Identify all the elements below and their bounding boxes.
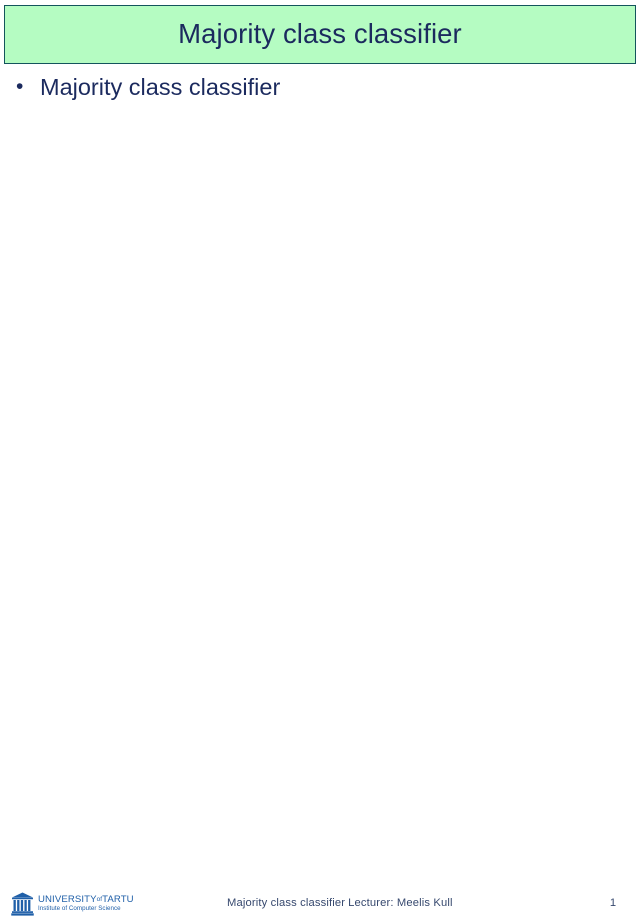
slide-canvas: Majority class classifier • Majority cla… <box>0 0 640 480</box>
footer-caption-title: Majority class classifier <box>227 897 345 909</box>
university-name: UNIVERSITYofTARTU <box>38 895 134 905</box>
university-name-part1: UNIVERSITY <box>38 894 97 905</box>
footer-caption-lecturer: Lecturer: Meelis Kull <box>348 897 453 909</box>
slide-footer: UNIVERSITYofTARTU Institute of Computer … <box>0 445 640 480</box>
university-logo: UNIVERSITYofTARTU Institute of Computer … <box>11 891 139 917</box>
footer-caption: Majority class classifierLecturer: Meeli… <box>227 897 453 909</box>
page-number: 1 <box>605 897 621 909</box>
bullet-dot-icon: • <box>14 72 40 102</box>
page-title: Majority class classifier <box>178 20 462 50</box>
university-wordmark: UNIVERSITYofTARTU Institute of Computer … <box>38 895 134 912</box>
university-name-part2: TARTU <box>102 894 134 905</box>
university-building-icon <box>11 892 34 916</box>
slide-title-box: Majority class classifier <box>4 5 636 64</box>
slide-content: • Majority class classifier <box>0 72 640 108</box>
university-subtitle: Institute of Computer Science <box>38 906 134 912</box>
list-item-label: Majority class classifier <box>40 72 280 102</box>
list-item: • Majority class classifier <box>0 72 640 102</box>
